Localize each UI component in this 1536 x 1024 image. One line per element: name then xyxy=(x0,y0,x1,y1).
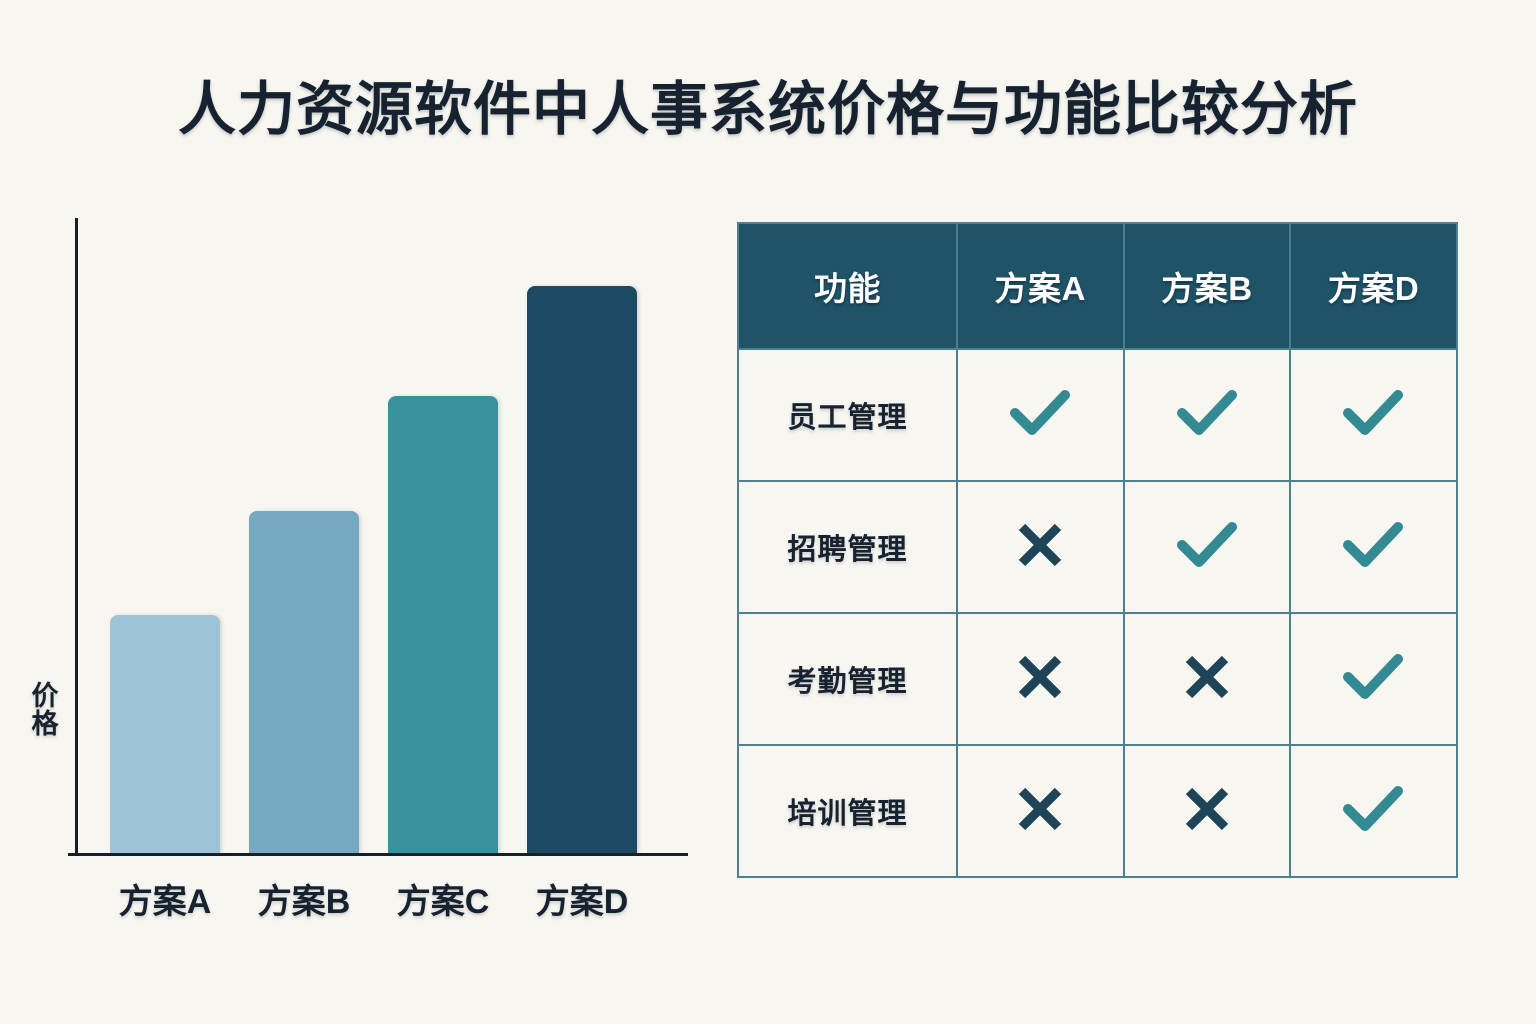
table-cell-plan-a xyxy=(957,349,1124,481)
table-cell-plan-d xyxy=(1290,481,1457,613)
table-row: 员工管理 xyxy=(738,349,1457,481)
cross-icon xyxy=(1182,784,1232,834)
table-cell-feature: 招聘管理 xyxy=(738,481,957,613)
page-title: 人力资源软件中人事系统价格与功能比较分析 xyxy=(0,62,1536,146)
y-axis-label-char-2: 格 xyxy=(22,710,68,738)
table-cell-plan-b xyxy=(1124,349,1291,481)
check-icon xyxy=(1176,389,1238,437)
table-body: 员工管理招聘管理考勤管理培训管理 xyxy=(738,349,1457,877)
check-icon xyxy=(1176,521,1238,569)
table-cell-feature: 考勤管理 xyxy=(738,613,957,745)
table-cell-feature: 培训管理 xyxy=(738,745,957,877)
table-header-plan-a: 方案A xyxy=(957,223,1124,349)
table-row: 招聘管理 xyxy=(738,481,1457,613)
x-tick-label-a: 方案A xyxy=(85,874,245,923)
check-icon xyxy=(1342,785,1404,833)
table-header-row: 功能 方案A 方案B 方案D xyxy=(738,223,1457,349)
table-cell-plan-d xyxy=(1290,613,1457,745)
table-header-plan-d: 方案D xyxy=(1290,223,1457,349)
table-cell-plan-a xyxy=(957,481,1124,613)
x-axis-line xyxy=(68,853,688,856)
table-cell-plan-b xyxy=(1124,613,1291,745)
bar-fang-an-b[interactable] xyxy=(249,511,359,853)
table-row: 考勤管理 xyxy=(738,613,1457,745)
table-header-plan-b: 方案B xyxy=(1124,223,1291,349)
cross-icon xyxy=(1015,520,1065,570)
bar-fang-an-c[interactable] xyxy=(388,396,498,854)
check-icon xyxy=(1342,389,1404,437)
table-cell-plan-a xyxy=(957,613,1124,745)
cross-icon xyxy=(1182,652,1232,702)
y-axis-label-char-1: 价 xyxy=(22,682,68,710)
x-tick-label-d: 方案D xyxy=(502,874,662,923)
check-icon xyxy=(1009,389,1071,437)
table-cell-plan-d xyxy=(1290,349,1457,481)
check-icon xyxy=(1342,521,1404,569)
x-tick-label-c: 方案C xyxy=(363,874,523,923)
bar-fang-an-d[interactable] xyxy=(527,286,637,853)
feature-comparison-table: 功能 方案A 方案B 方案D 员工管理招聘管理考勤管理培训管理 xyxy=(737,222,1458,878)
table-cell-plan-d xyxy=(1290,745,1457,877)
cross-icon xyxy=(1015,784,1065,834)
table-cell-plan-a xyxy=(957,745,1124,877)
cross-icon xyxy=(1015,652,1065,702)
bar-chart: 价格 方案A 方案B 方案C 方案D xyxy=(0,190,720,950)
bar-fang-an-a[interactable] xyxy=(110,615,220,853)
check-icon xyxy=(1342,653,1404,701)
table-cell-plan-b xyxy=(1124,481,1291,613)
y-axis-line xyxy=(75,218,78,855)
table-cell-feature: 员工管理 xyxy=(738,349,957,481)
y-axis-label: 价格 xyxy=(22,682,68,739)
table-header-feature: 功能 xyxy=(738,223,957,349)
table-row: 培训管理 xyxy=(738,745,1457,877)
table-cell-plan-b xyxy=(1124,745,1291,877)
x-tick-label-b: 方案B xyxy=(224,874,384,923)
